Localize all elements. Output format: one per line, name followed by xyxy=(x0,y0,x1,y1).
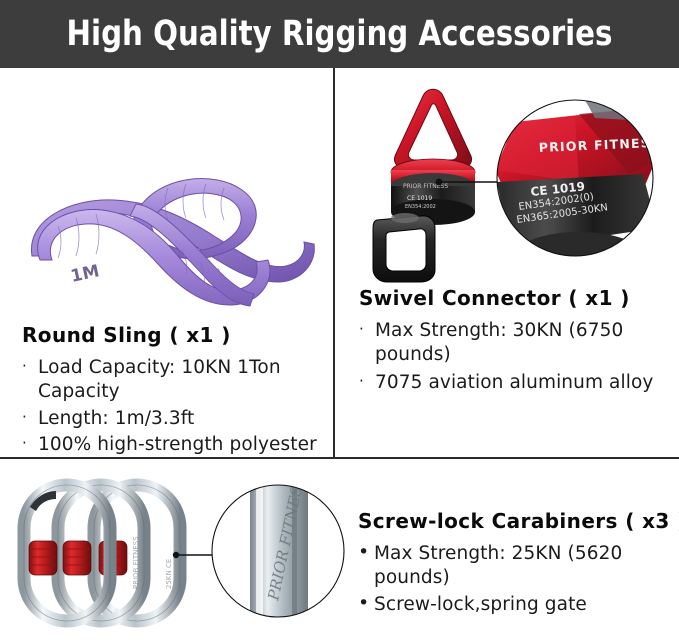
product-cell-screw-lock-carabiners: PRIOR FITNESS 25KN CE PRIOR FITNESS Sc xyxy=(0,459,679,642)
swivel-connector-illustration: PRIOR FITNESS CE 1019 EN354:2002 xyxy=(343,78,679,283)
swivel-connector-image: PRIOR FITNESS CE 1019 EN354:2002 xyxy=(343,78,679,283)
carabiner-2-lock-sleeve xyxy=(63,541,91,575)
svg-text:PRIOR FITNESS: PRIOR FITNESS xyxy=(132,536,140,589)
bullet-text: Load Capacity: 10KN 1Ton Capacity xyxy=(38,357,281,402)
svg-text:25KN CE: 25KN CE xyxy=(165,559,173,589)
bullet-text: Max Strength: 30KN (6750 pounds) xyxy=(375,320,623,365)
bullet-marker: • xyxy=(358,540,369,565)
carabiner-1-lock-sleeve xyxy=(29,541,57,575)
bullet-marker: · xyxy=(22,434,27,454)
magnified-chrome-highlight xyxy=(256,485,263,617)
callout-anchor-dot xyxy=(436,179,443,186)
swivel-connector-text-block: Swivel Connector ( x1 ) · Max Strength: … xyxy=(359,286,671,398)
swivel-connector-bullet-2: · 7075 aviation aluminum alloy xyxy=(359,371,671,395)
page-title: High Quality Rigging Accessories xyxy=(67,17,613,52)
swivel-red-bail xyxy=(394,89,471,168)
round-sling-title: Round Sling ( x1 ) xyxy=(22,323,327,347)
bullet-marker: · xyxy=(22,357,27,377)
swivel-bearing-cap xyxy=(391,213,419,223)
swivel-connector-title: Swivel Connector ( x1 ) xyxy=(359,286,671,310)
swivel-black-bail-hole xyxy=(386,229,426,271)
carabiner-magnified-detail: PRIOR FITNESS xyxy=(212,474,344,617)
bullet-text: Length: 1m/3.3ft xyxy=(38,408,194,429)
round-sling-text-block: Round Sling ( x1 ) · Load Capacity: 10KN… xyxy=(22,323,327,457)
bullet-marker: • xyxy=(358,591,369,616)
product-cell-round-sling: 1M Round Sling ( x1 ) · Load Capacity: 1… xyxy=(0,68,333,457)
round-sling-image: 1M xyxy=(18,148,318,318)
bullet-text: Max Strength: 25KN (5620 pounds) xyxy=(374,543,622,588)
swivel-connector-bullet-1: · Max Strength: 30KN (6750 pounds) xyxy=(359,319,671,368)
round-sling-bullet-3: · 100% high-strength polyester yarn core xyxy=(22,433,327,457)
carabiners-bullet-1: • Max Strength: 25KN (5620 pounds) xyxy=(358,542,678,591)
header-band: High Quality Rigging Accessories xyxy=(0,0,679,68)
carabiners-bullet-2: • Screw-lock,spring gate xyxy=(358,593,678,617)
sling-marking-text: 1M xyxy=(69,261,101,287)
bullet-text: 7075 aviation aluminum alloy xyxy=(375,372,653,393)
bullet-text: Screw-lock,spring gate xyxy=(374,594,587,615)
carabiners-illustration: PRIOR FITNESS 25KN CE PRIOR FITNESS xyxy=(16,469,352,639)
infographic-page: High Quality Rigging Accessories xyxy=(0,0,679,642)
screw-lock-carabiners-image: PRIOR FITNESS 25KN CE PRIOR FITNESS xyxy=(16,469,352,639)
swivel-connector-bullet-list: · Max Strength: 30KN (6750 pounds) · 707… xyxy=(359,319,671,395)
bullet-marker: · xyxy=(359,320,364,340)
carabiners-text-block: Screw-lock Carabiners ( x3 ) • Max Stren… xyxy=(358,509,678,619)
swivel-small-ce-text: CE 1019 xyxy=(407,195,432,202)
bullet-marker: · xyxy=(359,372,364,392)
magnified-bottom-cap xyxy=(517,232,641,276)
product-cell-swivel-connector: PRIOR FITNESS CE 1019 EN354:2002 xyxy=(335,68,679,457)
bullet-marker: · xyxy=(22,408,27,428)
swivel-magnified-detail: PRIOR FITNESS CE 1019 EN354:2002(0) EN36… xyxy=(495,98,665,276)
carabiners-bullet-list: • Max Strength: 25KN (5620 pounds) • Scr… xyxy=(358,542,678,617)
round-sling-bullet-2: · Length: 1m/3.3ft xyxy=(22,407,327,431)
carabiner-engraving-marks: PRIOR FITNESS 25KN CE xyxy=(132,536,173,589)
round-sling-illustration: 1M xyxy=(18,148,318,318)
carabiners-title: Screw-lock Carabiners ( x3 ) xyxy=(358,509,678,533)
swivel-small-std-text: EN354:2002 xyxy=(405,204,436,210)
callout-anchor-dot xyxy=(173,552,179,558)
round-sling-bullet-list: · Load Capacity: 10KN 1Ton Capacity · Le… xyxy=(22,356,327,457)
bullet-text: 100% high-strength polyester yarn core xyxy=(38,434,317,457)
round-sling-bullet-1: · Load Capacity: 10KN 1Ton Capacity xyxy=(22,356,327,405)
